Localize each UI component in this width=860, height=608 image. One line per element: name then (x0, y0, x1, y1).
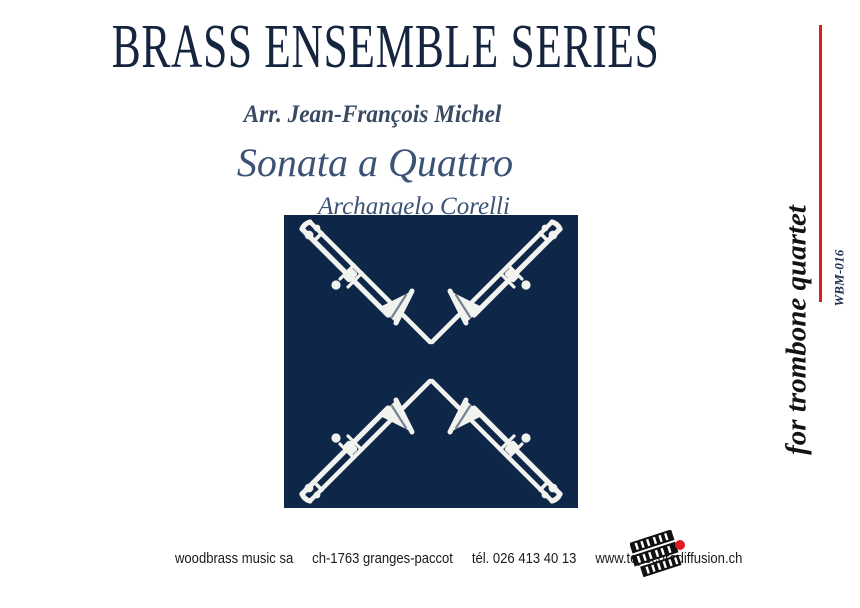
instrumentation-text: for trombone quartet (783, 205, 812, 455)
series-title: BRASS ENSEMBLE SERIES (112, 16, 634, 78)
logo-red-dot (675, 540, 685, 550)
arranger-credit: Arr. Jean-François Michel (26, 100, 719, 130)
footer-publisher: woodbrass music sa (175, 550, 293, 568)
footer-phone: tél. 026 413 40 13 (472, 550, 576, 568)
catalog-number-text: WBM-016 (833, 249, 846, 306)
artwork-background (284, 215, 578, 508)
footer-address: ch-1763 granges-paccot (312, 550, 453, 568)
score-cover-page: BRASS ENSEMBLE SERIES Arr. Jean-François… (0, 0, 860, 608)
spine-red-rule (819, 25, 822, 302)
work-title: Sonata a Quattro (0, 140, 750, 186)
woodbrass-music-logo (630, 530, 692, 584)
cover-artwork (284, 215, 578, 508)
four-trombones-icon (284, 215, 578, 508)
publisher-logo-icon (630, 530, 692, 584)
